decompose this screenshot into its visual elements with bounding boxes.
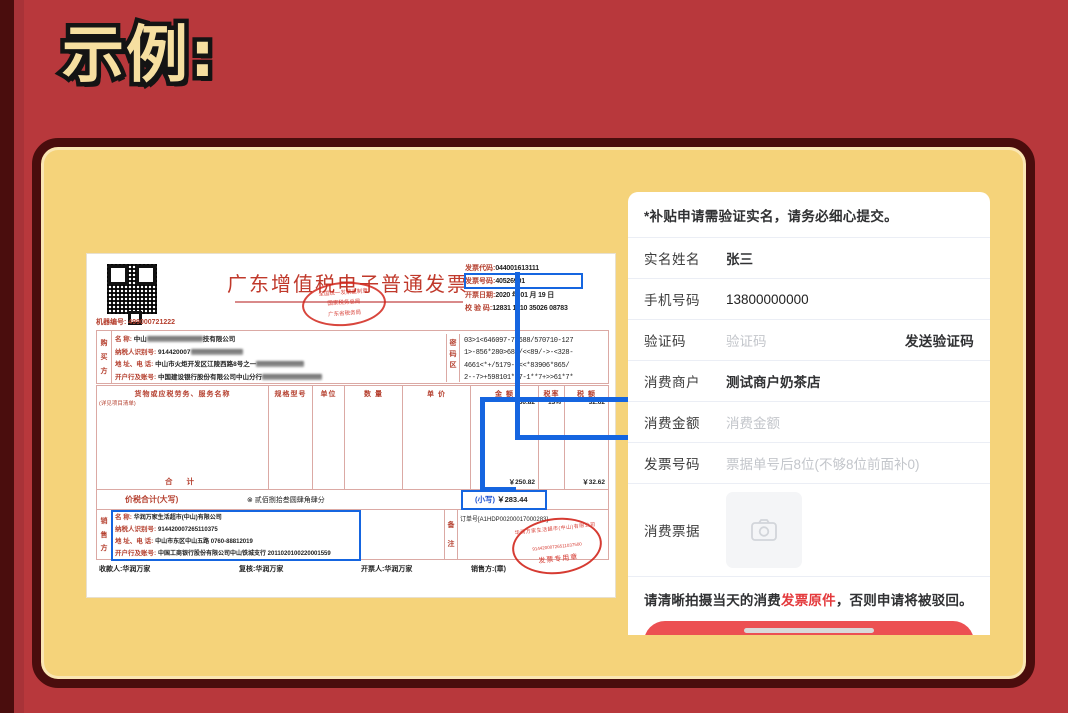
verification-code-input[interactable]: 验证码 xyxy=(726,330,905,350)
subsidy-form-panel: *补贴申请需验证实名，请务必细心提交。 实名姓名 张三 手机号码 1380000… xyxy=(628,192,990,635)
seller-fields: 名 称: 华润万家生活超市(中山)有限公司 纳税人识别号: 9144200072… xyxy=(115,512,418,560)
invoice-date-row: 开票日期:2020 年 01 月 19 日 xyxy=(465,289,615,302)
invoice-number-label: 发票号码: xyxy=(465,278,495,285)
buyer-taxid-row: 纳税人识别号: 914420007 xyxy=(115,347,408,360)
invoice-meta-block: 发票代码:044001613111 发票号码:40526901 开票日期:202… xyxy=(465,262,615,315)
col-header-spec: 规格型号 xyxy=(269,386,312,399)
buyer-name-row: 名 称: 中山技有限公司 xyxy=(115,334,408,347)
home-indicator xyxy=(744,628,874,633)
total-small-group: (小写) ￥283.44 xyxy=(475,494,528,505)
realname-input[interactable]: 张三 xyxy=(726,248,974,268)
field-row-invoice-number[interactable]: 发票号码 票据单号后8位(不够8位前面补0) xyxy=(628,443,990,484)
receipt-label: 消费票据 xyxy=(644,520,726,540)
connector-line-segment-amount-lower xyxy=(480,487,516,492)
invoice-number-label: 发票号码 xyxy=(644,453,726,473)
warning-text: 请清晰拍摄当天的消费发票原件，否则申请将被驳回。 xyxy=(628,577,990,619)
amount-total-value: ￥250.82 xyxy=(509,476,535,486)
seller-section: 销 售 方 名 称: 华润万家生活超市(中山)有限公司 纳税人识别号: 9144… xyxy=(96,510,609,560)
left-stripe-dark xyxy=(0,0,14,713)
invoice-code-value: 044001613111 xyxy=(495,265,539,272)
page-background: 示例: 机器编号: 499000721222 广东增值税电子普通发票 全国统一发… xyxy=(0,0,1068,713)
send-code-button[interactable]: 发送验证码 xyxy=(905,330,974,350)
field-row-amount[interactable]: 消费金额 消费金额 xyxy=(628,402,990,443)
seller-bank-row: 开户行及账号: 中国工商银行股份有限公司中山铁城支行 2011020100220… xyxy=(115,548,418,560)
verification-code-label: 验证码 xyxy=(644,330,726,350)
amount-input[interactable]: 消费金额 xyxy=(726,412,974,432)
invoice-image: 机器编号: 499000721222 广东增值税电子普通发票 全国统一发票监制章… xyxy=(86,253,616,598)
page-title: 示例: xyxy=(62,24,217,86)
col-header-unit: 单位 xyxy=(313,386,344,399)
code-area-content: 03>1<646097-7-688/570710-127 1>-856*280>… xyxy=(464,335,604,384)
warning-suffix: ，否则申请将被驳回。 xyxy=(836,593,973,608)
col-header-goods: 货物或应税劳务、服务名称 xyxy=(97,386,268,399)
warning-highlight: 发票原件 xyxy=(781,593,836,608)
buyer-side-label: 购 买 方 xyxy=(97,331,112,383)
connector-line-vertical-amount xyxy=(480,402,485,492)
reviewer-field: 复核:华润万家 xyxy=(239,564,283,574)
merchant-value: 测试商户奶茶店 xyxy=(726,371,974,391)
amount-label: 消费金额 xyxy=(644,412,726,432)
warning-prefix: 请清晰拍摄当天的消费 xyxy=(644,593,781,608)
machine-number-value: 499000721222 xyxy=(128,319,175,326)
machine-number: 机器编号: 499000721222 xyxy=(96,317,175,327)
realname-label: 实名姓名 xyxy=(644,248,726,268)
connector-line-horizontal-to-invoice-field xyxy=(515,435,639,440)
total-chinese: ⊗ 贰佰捌拾叁圆肆角肆分 xyxy=(247,495,325,505)
field-row-receipt-upload[interactable]: 消费票据 xyxy=(628,484,990,577)
receipt-upload-box[interactable] xyxy=(726,492,802,568)
buyer-fields: 名 称: 中山技有限公司 纳税人识别号: 914420007 地 址、电 话: … xyxy=(115,334,408,385)
col-header-price: 单 价 xyxy=(403,386,470,399)
invoice-check-value: 12831 1010 35026 08783 xyxy=(492,305,567,312)
field-row-realname[interactable]: 实名姓名 张三 xyxy=(628,238,990,279)
form-note: *补贴申请需验证实名，请务必细心提交。 xyxy=(628,192,990,238)
invoice-code-label: 发票代码: xyxy=(465,265,495,272)
total-small-label: (小写) xyxy=(475,495,495,504)
camera-icon xyxy=(751,519,777,541)
left-stripe-red xyxy=(14,0,24,713)
invoice-number-value: 40526901 xyxy=(495,278,525,285)
total-row: 价税合计(大写) ⊗ 贰佰捌拾叁圆肆角肆分 (小写) ￥283.44 xyxy=(96,490,609,510)
invoice-seal-icon: 华润万家生活超市(中山)有限公司 91442000726511037500 发票… xyxy=(509,513,604,578)
tax-total-value: ￥32.62 xyxy=(582,476,605,486)
invoice-check-label: 校 验 码: xyxy=(465,305,492,312)
invoice-number-row: 发票号码:40526901 xyxy=(465,275,615,288)
col-header-qty: 数 量 xyxy=(345,386,402,399)
seller-sign-field: 销售方:(章) xyxy=(471,564,506,574)
remark-label: 备 注 xyxy=(444,510,458,559)
total-label: 价税合计(大写) xyxy=(125,494,178,505)
invoice-date-label: 开票日期: xyxy=(465,292,495,299)
goods-subtitle: (详见项目清单) xyxy=(97,399,268,407)
seller-side-label: 销 售 方 xyxy=(97,510,112,559)
buyer-bank-row: 开户行及账号: 中国建设银行股份有限公司中山分行 xyxy=(115,372,408,385)
connector-line-horizontal-to-amount-field xyxy=(480,397,639,402)
buyer-address-row: 地 址、电 话: 中山市火炬开发区江陵西路8号之一 xyxy=(115,359,408,372)
buyer-section: 购 买 方 名 称: 中山技有限公司 纳税人识别号: 914420007 地 址… xyxy=(96,330,609,384)
merchant-label: 消费商户 xyxy=(644,371,726,391)
connector-line-vertical-invoice-number xyxy=(515,272,520,440)
invoice-code-row: 发票代码:044001613111 xyxy=(465,262,615,275)
field-row-phone[interactable]: 手机号码 13800000000 xyxy=(628,279,990,320)
code-area-label: 密码区 xyxy=(446,334,460,382)
seller-address-row: 地 址、电 话: 中山市东区中山五路 0760-88812019 xyxy=(115,536,418,548)
field-row-verification-code[interactable]: 验证码 验证码 发送验证码 xyxy=(628,320,990,361)
machine-number-label: 机器编号: xyxy=(96,319,126,326)
total-small-value: ￥283.44 xyxy=(497,495,527,504)
seller-name-row: 名 称: 华润万家生活超市(中山)有限公司 xyxy=(115,512,418,524)
payee-field: 收款人:华润万家 xyxy=(99,564,150,574)
field-row-merchant[interactable]: 消费商户 测试商户奶茶店 xyxy=(628,361,990,402)
invoice-check-row: 校 验 码:12831 1010 35026 08783 xyxy=(465,302,615,315)
invoice-number-input[interactable]: 票据单号后8位(不够8位前面补0) xyxy=(726,453,974,473)
seller-taxid-row: 纳税人识别号: 914420007265110375 xyxy=(115,524,418,536)
phone-label: 手机号码 xyxy=(644,289,726,309)
phone-input[interactable]: 13800000000 xyxy=(726,292,974,307)
invoice-date-value: 2020 年 01 月 19 日 xyxy=(495,292,554,299)
qr-code-icon xyxy=(107,264,157,314)
drawer-field: 开票人:华润万家 xyxy=(361,564,412,574)
sum-label: 合 计 xyxy=(97,476,268,487)
